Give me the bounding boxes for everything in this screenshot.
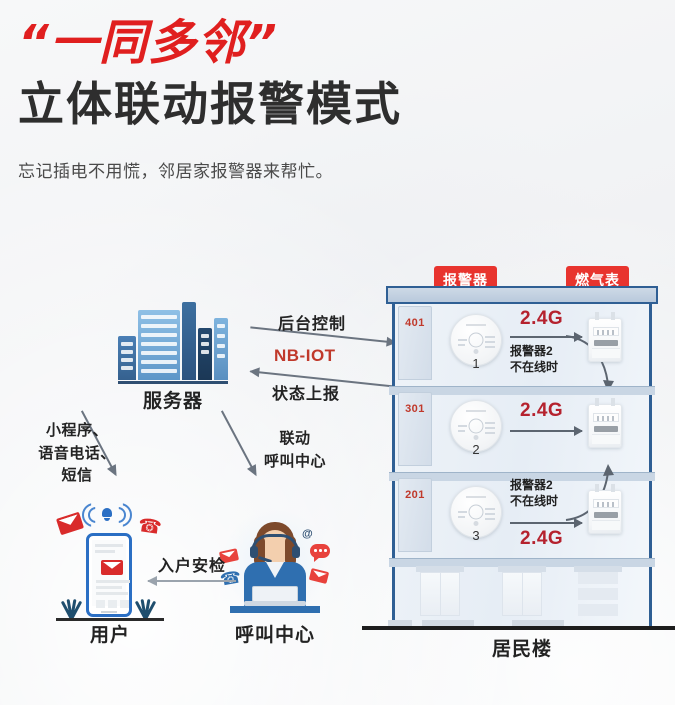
offline-note-401-line2: 不在线时 — [510, 360, 558, 376]
desk — [230, 606, 320, 613]
wireless-label-201: 2.4G — [520, 528, 563, 550]
wireless-label-301: 2.4G — [520, 400, 563, 422]
gas-meter-icon — [588, 490, 622, 534]
window-3 — [578, 572, 618, 616]
user-label: 用户 — [52, 620, 168, 647]
ground-floor — [392, 558, 646, 626]
building-ground-line — [362, 626, 675, 630]
offline-note-401: 报警器2 不在线时 — [510, 344, 558, 375]
page-header: “一同多邻” 立体联动报警模式 忘记插电不用慌，邻居家报警器来帮忙。 — [18, 18, 658, 182]
envelope-icon — [56, 512, 84, 536]
to-user-line-3: 短信 — [18, 465, 136, 488]
window-1 — [420, 572, 460, 616]
wireless-arrow-201 — [510, 522, 582, 524]
alarm-index-3: 3 — [450, 528, 502, 543]
inspection-arrow — [148, 580, 236, 582]
gas-meter-icon — [588, 318, 622, 362]
plant-left-icon — [60, 595, 82, 619]
floor-301: 301 2 2.4G — [392, 386, 646, 472]
plant-right-icon — [134, 595, 156, 619]
to-user-line-1: 小程序、 — [18, 420, 136, 443]
server-to-callcenter-label: 联动 呼叫中心 — [240, 428, 350, 473]
residential-building: 401 1 2.4G 报警器2 不在线时 — [392, 300, 652, 630]
page-subtitle: 忘记插电不用慌，邻居家报警器来帮忙。 — [18, 157, 658, 182]
smartphone-icon — [86, 533, 132, 617]
page-title-main: 立体联动报警模式 — [18, 79, 658, 130]
door-401: 401 — [398, 306, 432, 380]
diagram-stage: 报警器 燃气表 服务器 后台控制 NB-IOT 状态上报 小程序、 语音电话、 … — [0, 250, 675, 705]
headset-earcup-left — [250, 546, 258, 558]
nbiot-link-group: 后台控制 NB-IOT 状态上报 — [250, 318, 398, 396]
at-sign-icon: @ — [302, 528, 313, 540]
server-label: 服务器 — [100, 386, 246, 413]
downlink-label: 后台控制 — [278, 310, 346, 334]
wireless-arrow-301 — [510, 430, 582, 432]
offline-note-201-line2: 不在线时 — [510, 494, 558, 510]
window-2 — [502, 572, 542, 616]
to-cc-line-2: 呼叫中心 — [240, 451, 350, 474]
call-center-label: 呼叫中心 — [205, 620, 345, 647]
door-201: 201 — [398, 478, 432, 552]
phone-handset-icon: ☎ — [137, 516, 155, 536]
room-number-401: 401 — [399, 317, 431, 329]
room-number-301: 301 — [399, 403, 431, 415]
server-to-user-label: 小程序、 语音电话、 短信 — [18, 420, 136, 488]
inspection-label: 入户安检 — [140, 552, 244, 576]
alarm-index-2: 2 — [450, 442, 502, 457]
to-cc-line-1: 联动 — [240, 428, 350, 451]
server-base — [118, 381, 228, 384]
room-number-201: 201 — [399, 489, 431, 501]
floor-401: 401 1 2.4G 报警器2 不在线时 — [392, 300, 646, 386]
bell-icon — [100, 507, 114, 521]
wireless-label-401: 2.4G — [520, 308, 563, 330]
page-title-quoted: “一同多邻” — [18, 18, 658, 69]
headset-earcup-right — [292, 546, 300, 558]
uplink-label: 状态上报 — [272, 380, 340, 404]
offline-note-401-line1: 报警器2 — [510, 344, 558, 360]
offline-note-201: 报警器2 不在线时 — [510, 478, 558, 509]
server-icon — [118, 302, 228, 384]
floor-201: 201 3 报警器2 不在线时 2.4G — [392, 472, 646, 558]
gas-meter-icon — [588, 404, 622, 448]
chat-bubble-icon — [310, 544, 330, 558]
offline-note-201-line1: 报警器2 — [510, 478, 558, 494]
door-301: 301 — [398, 392, 432, 466]
building-label: 居民楼 — [392, 634, 652, 661]
laptop-icon — [244, 586, 306, 606]
alarm-index-1: 1 — [450, 356, 502, 371]
to-user-line-2: 语音电话、 — [18, 443, 136, 466]
message-envelope-icon — [101, 560, 123, 575]
protocol-label: NB-IOT — [274, 346, 336, 366]
